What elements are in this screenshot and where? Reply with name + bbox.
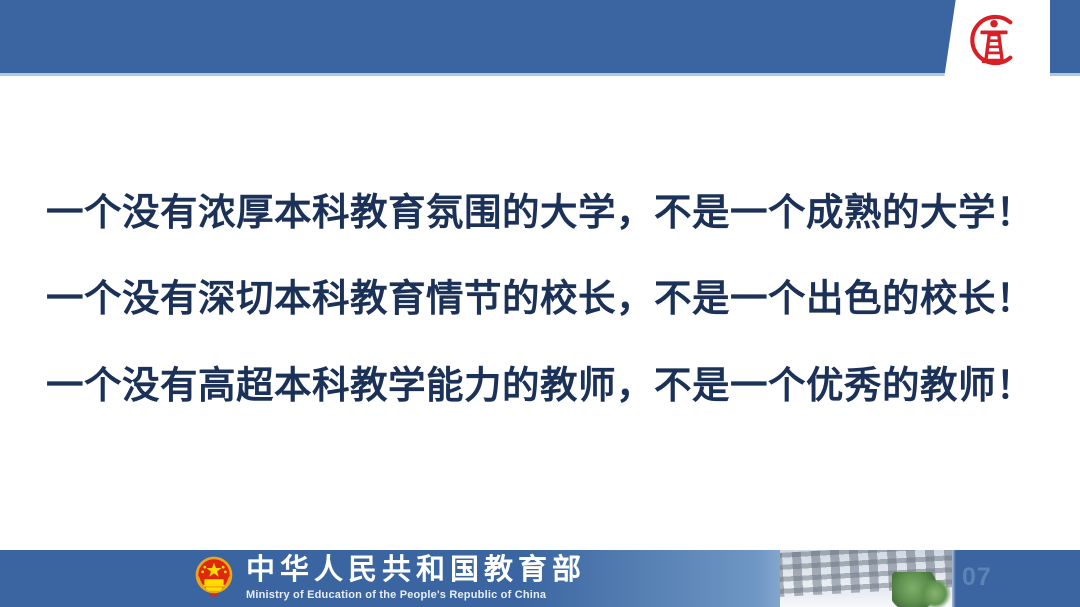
statement-line-2: 一个没有深切本科教育情节的校长，不是一个出色的校长！ — [0, 258, 1080, 344]
header-logo-panel — [944, 0, 1050, 79]
footer-title-block: 中华人民共和国教育部 Ministry of Education of the … — [246, 553, 586, 601]
statement-list: 一个没有浓厚本科教育氛围的大学，不是一个成熟的大学！ 一个没有深切本科教育情节的… — [0, 172, 1080, 431]
building-photo — [780, 550, 952, 607]
national-emblem-icon — [192, 554, 236, 602]
statement-line-1: 一个没有浓厚本科教育氛围的大学，不是一个成熟的大学！ — [0, 172, 1080, 258]
university-emblem-icon — [960, 6, 1028, 74]
slide-root: 一个没有浓厚本科教育氛围的大学，不是一个成熟的大学！ 一个没有深切本科教育情节的… — [0, 0, 1080, 607]
tree-foliage-secondary — [918, 580, 952, 607]
header-bar — [0, 0, 1080, 73]
page-number: 07 — [962, 563, 992, 592]
slide-body: 一个没有浓厚本科教育氛围的大学，不是一个成熟的大学！ 一个没有深切本科教育情节的… — [0, 76, 1080, 550]
statement-line-3: 一个没有高超本科教学能力的教师，不是一个优秀的教师！ — [0, 345, 1080, 431]
footer-title-cn: 中华人民共和国教育部 — [246, 553, 586, 585]
footer-title-en: Ministry of Education of the People's Re… — [246, 589, 586, 601]
